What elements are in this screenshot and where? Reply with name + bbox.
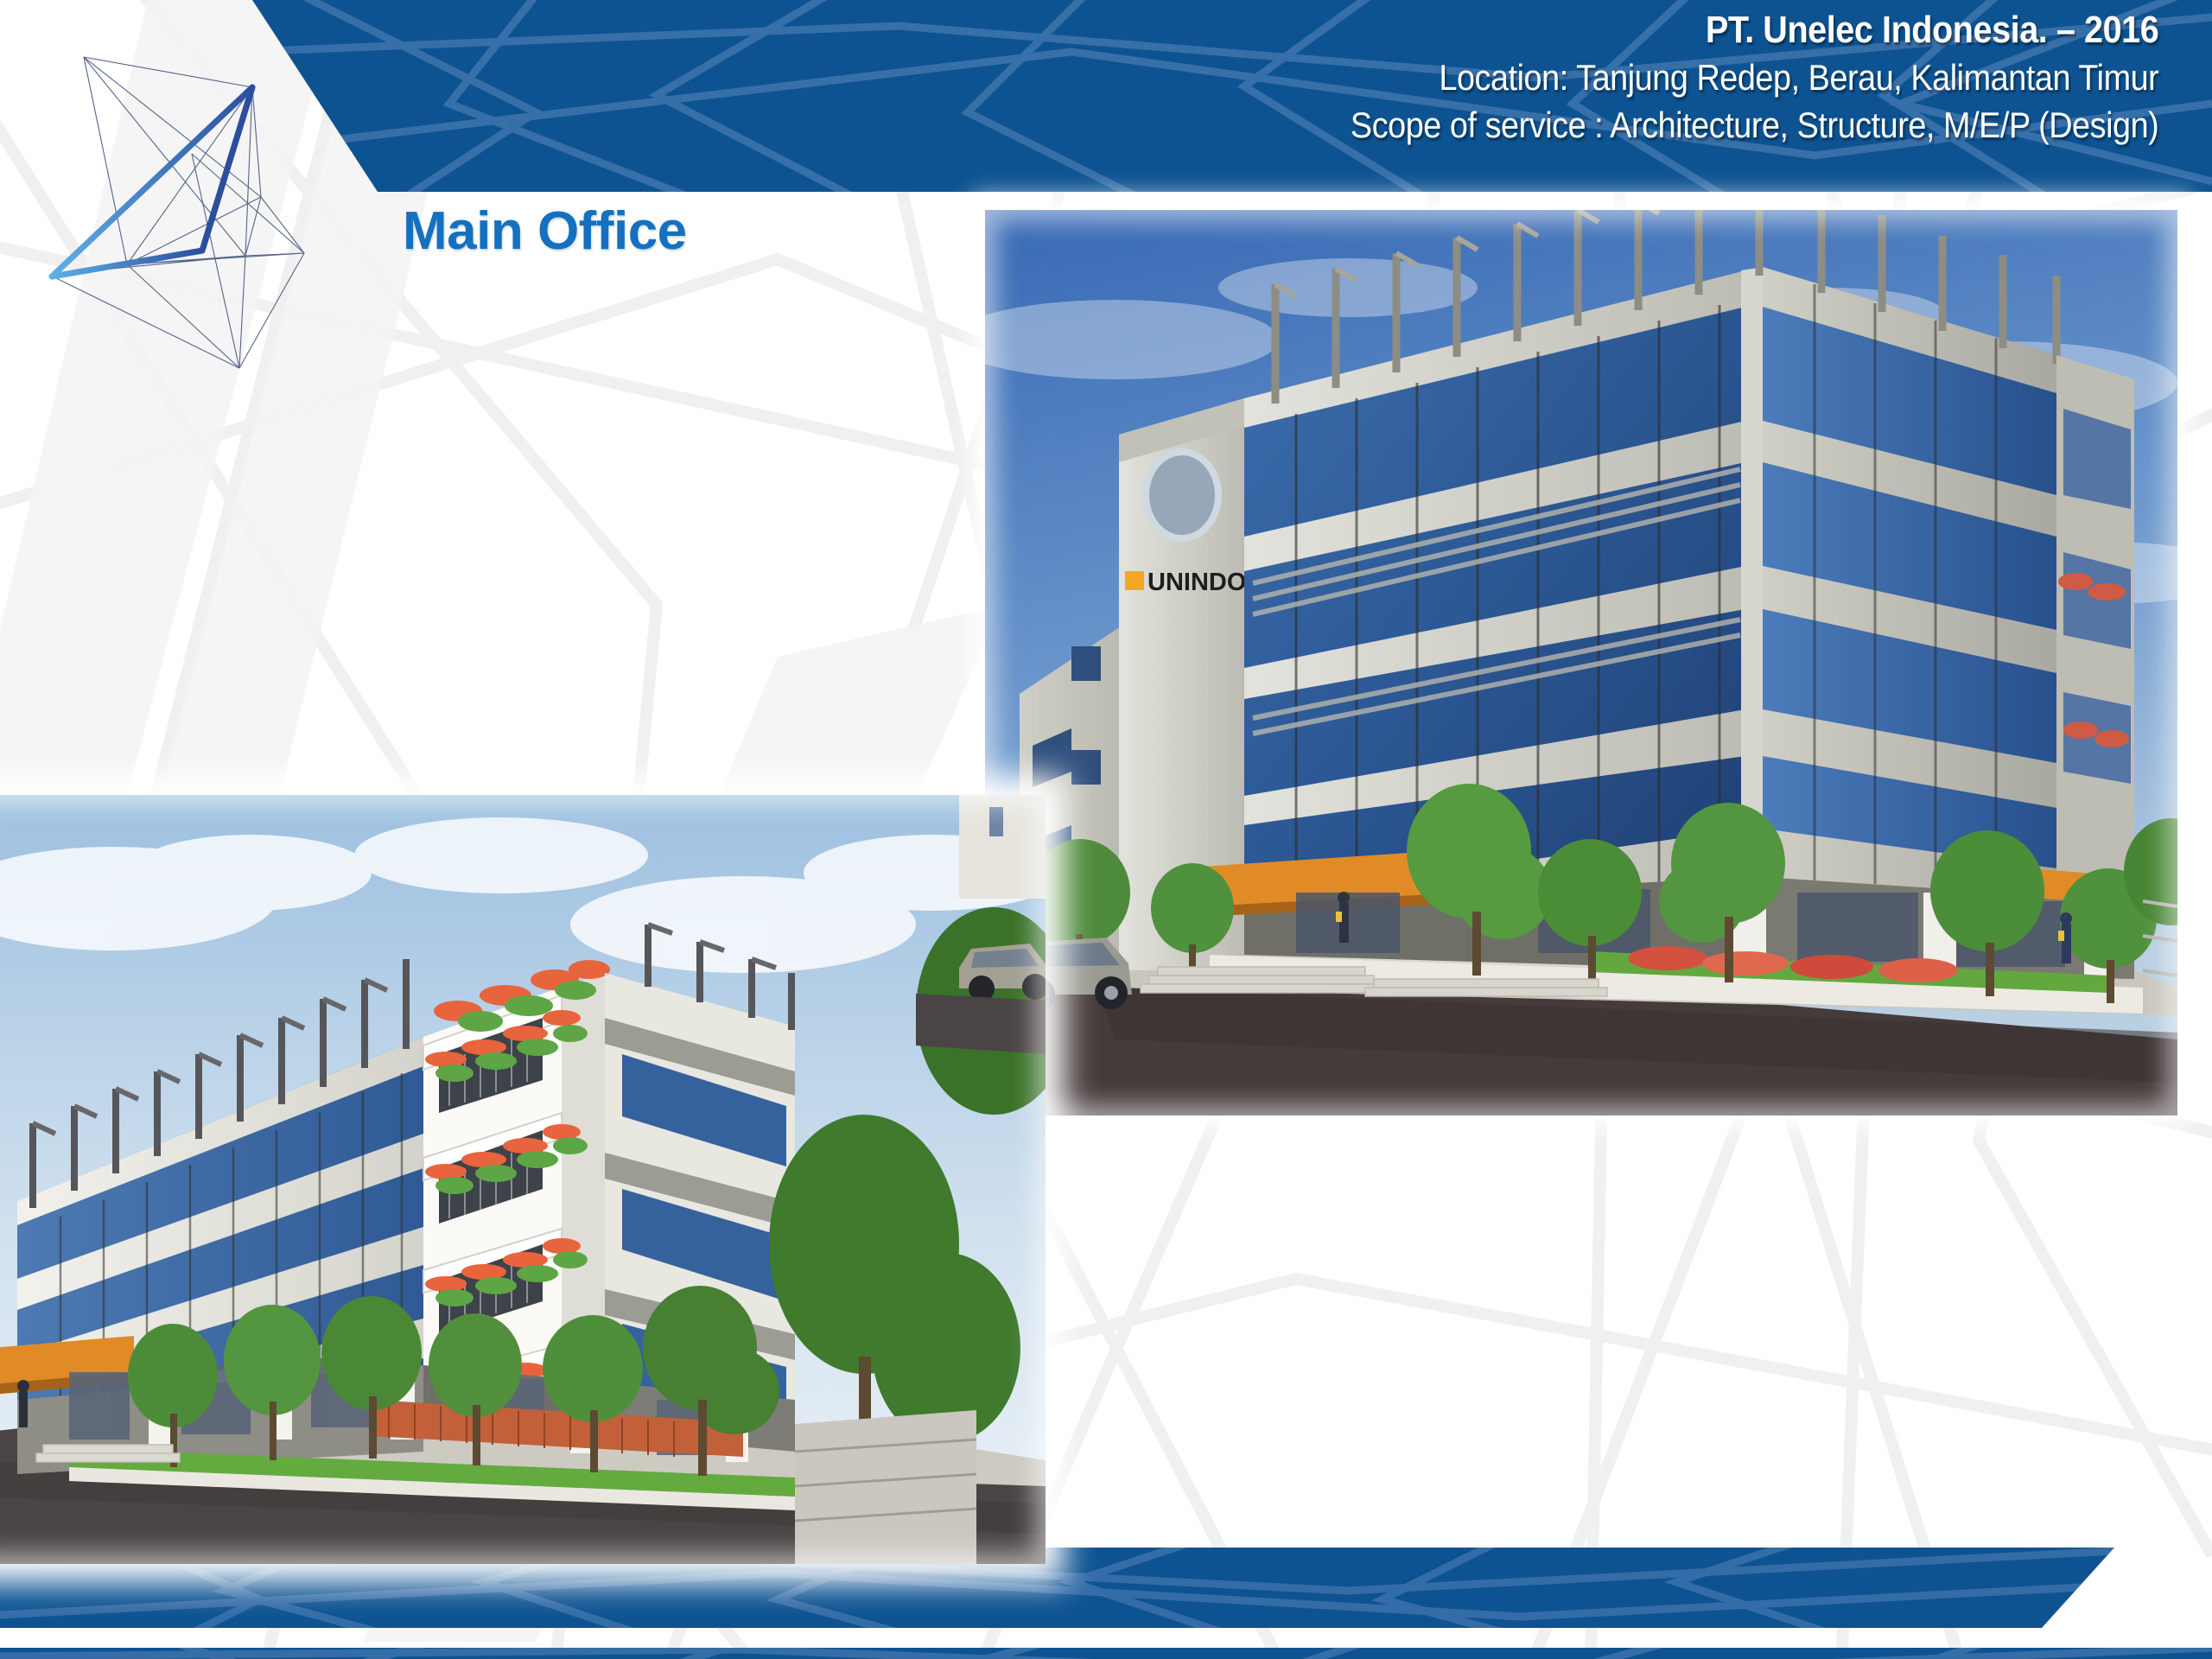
- header-line-location: Location: Tanjung Redep, Berau, Kalimant…: [1351, 54, 2158, 101]
- header-line-company: PT. Unelec Indonesia. – 2016: [1351, 7, 2158, 54]
- presentation-slide: PT. Unelec Indonesia. – 2016 Location: T…: [0, 0, 2212, 1659]
- footer-lower-polygon-pattern: [0, 1648, 2212, 1659]
- svg-text:UNINDO: UNINDO: [1147, 569, 1246, 596]
- page-title: Main Office: [403, 200, 687, 262]
- main-office-render-secondary: [0, 795, 1046, 1564]
- header-text-block: PT. Unelec Indonesia. – 2016 Location: T…: [1261, 7, 2158, 149]
- header-line-scope: Scope of service : Architecture, Structu…: [1351, 101, 2158, 149]
- footer-lower-bar: [0, 1648, 2212, 1659]
- main-office-render-primary: UNINDO: [985, 210, 2177, 1116]
- company-wireframe-logo: [45, 33, 321, 378]
